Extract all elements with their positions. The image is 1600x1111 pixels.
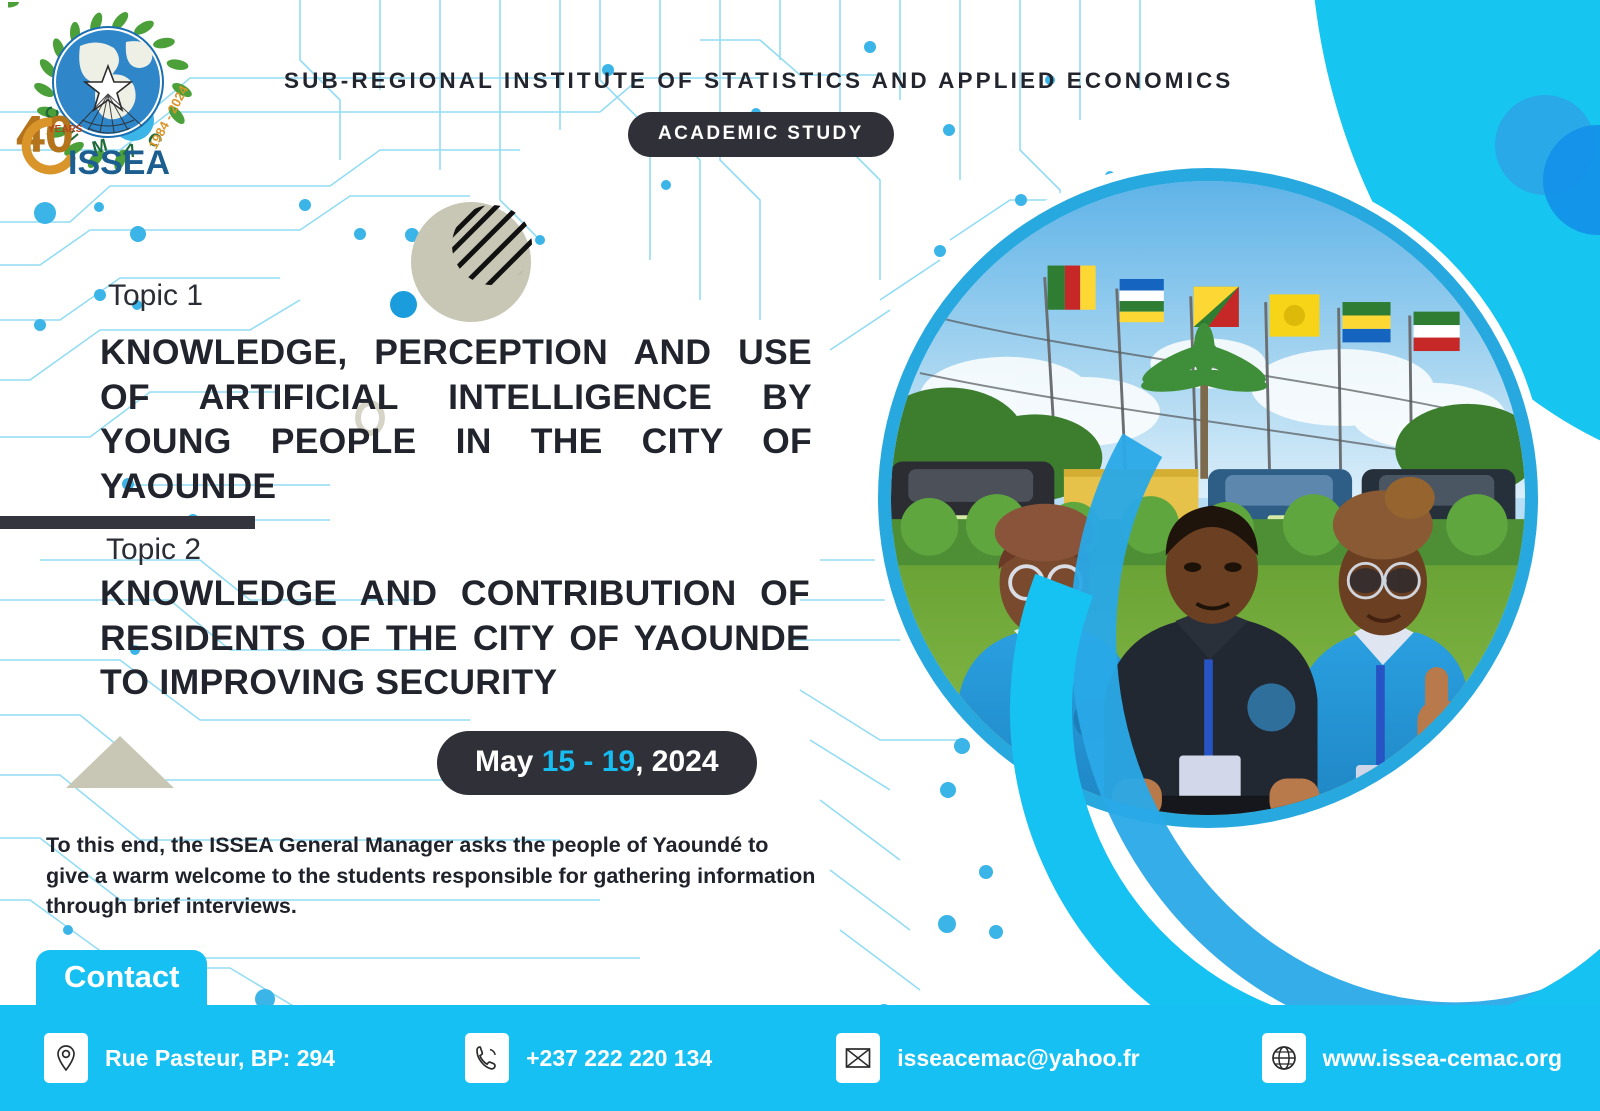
issea-cemac-logo: C E M A C 40 YEARS 1984 - 2024 ISSEA — [8, 2, 208, 182]
body-note: To this end, the ISSEA General Manager a… — [46, 830, 816, 922]
phone-icon — [465, 1033, 509, 1083]
contact-item-email[interactable]: isseacemac@yahoo.fr — [836, 1033, 1139, 1083]
date-month: May — [475, 745, 533, 778]
contact-tab-label: Contact — [36, 950, 207, 1005]
topic-2-label: Topic 2 — [106, 533, 201, 567]
contact-item-address[interactable]: Rue Pasteur, BP: 294 — [44, 1033, 335, 1083]
contact-website-text: www.issea-cemac.org — [1323, 1045, 1562, 1072]
topic-2-title: KNOWLEDGE AND CONTRIBUTION OF RESIDENTS … — [100, 571, 810, 705]
date-end-day: 19 — [602, 745, 635, 778]
contact-phone-text: +237 222 220 134 — [526, 1045, 712, 1072]
academic-study-badge: ACADEMIC STUDY — [628, 112, 894, 157]
date-separator: - — [583, 745, 593, 778]
blue-dot-decoration — [390, 291, 417, 318]
contact-item-phone[interactable]: +237 222 220 134 — [465, 1033, 712, 1083]
contact-row: Rue Pasteur, BP: 294 +237 222 220 134 is… — [0, 1005, 1600, 1111]
location-pin-icon — [44, 1033, 88, 1083]
striped-circle-decoration — [452, 199, 532, 291]
date-start-day: 15 — [542, 745, 575, 778]
svg-text:YEARS: YEARS — [48, 124, 83, 135]
institute-title: SUB-REGIONAL INSTITUTE OF STATISTICS AND… — [284, 68, 1374, 94]
globe-icon — [1262, 1033, 1306, 1083]
topic-1-title: KNOWLEDGE, PERCEPTION AND USE OF ARTIFIC… — [100, 330, 812, 509]
contact-address-text: Rue Pasteur, BP: 294 — [105, 1045, 335, 1072]
topic-1-label: Topic 1 — [108, 279, 203, 313]
svg-text:ISSEA: ISSEA — [68, 144, 170, 182]
contact-email-text: isseacemac@yahoo.fr — [897, 1045, 1139, 1072]
poster-root: C E M A C 40 YEARS 1984 - 2024 ISSEA SUB… — [0, 0, 1600, 1111]
khaki-triangle-decoration — [66, 736, 174, 788]
topic-divider-rule — [0, 516, 255, 529]
contact-item-website[interactable]: www.issea-cemac.org — [1262, 1033, 1562, 1083]
envelope-icon — [836, 1033, 880, 1083]
date-badge: May 15 - 19, 2024 — [437, 731, 757, 795]
date-year: , 2024 — [635, 745, 718, 778]
